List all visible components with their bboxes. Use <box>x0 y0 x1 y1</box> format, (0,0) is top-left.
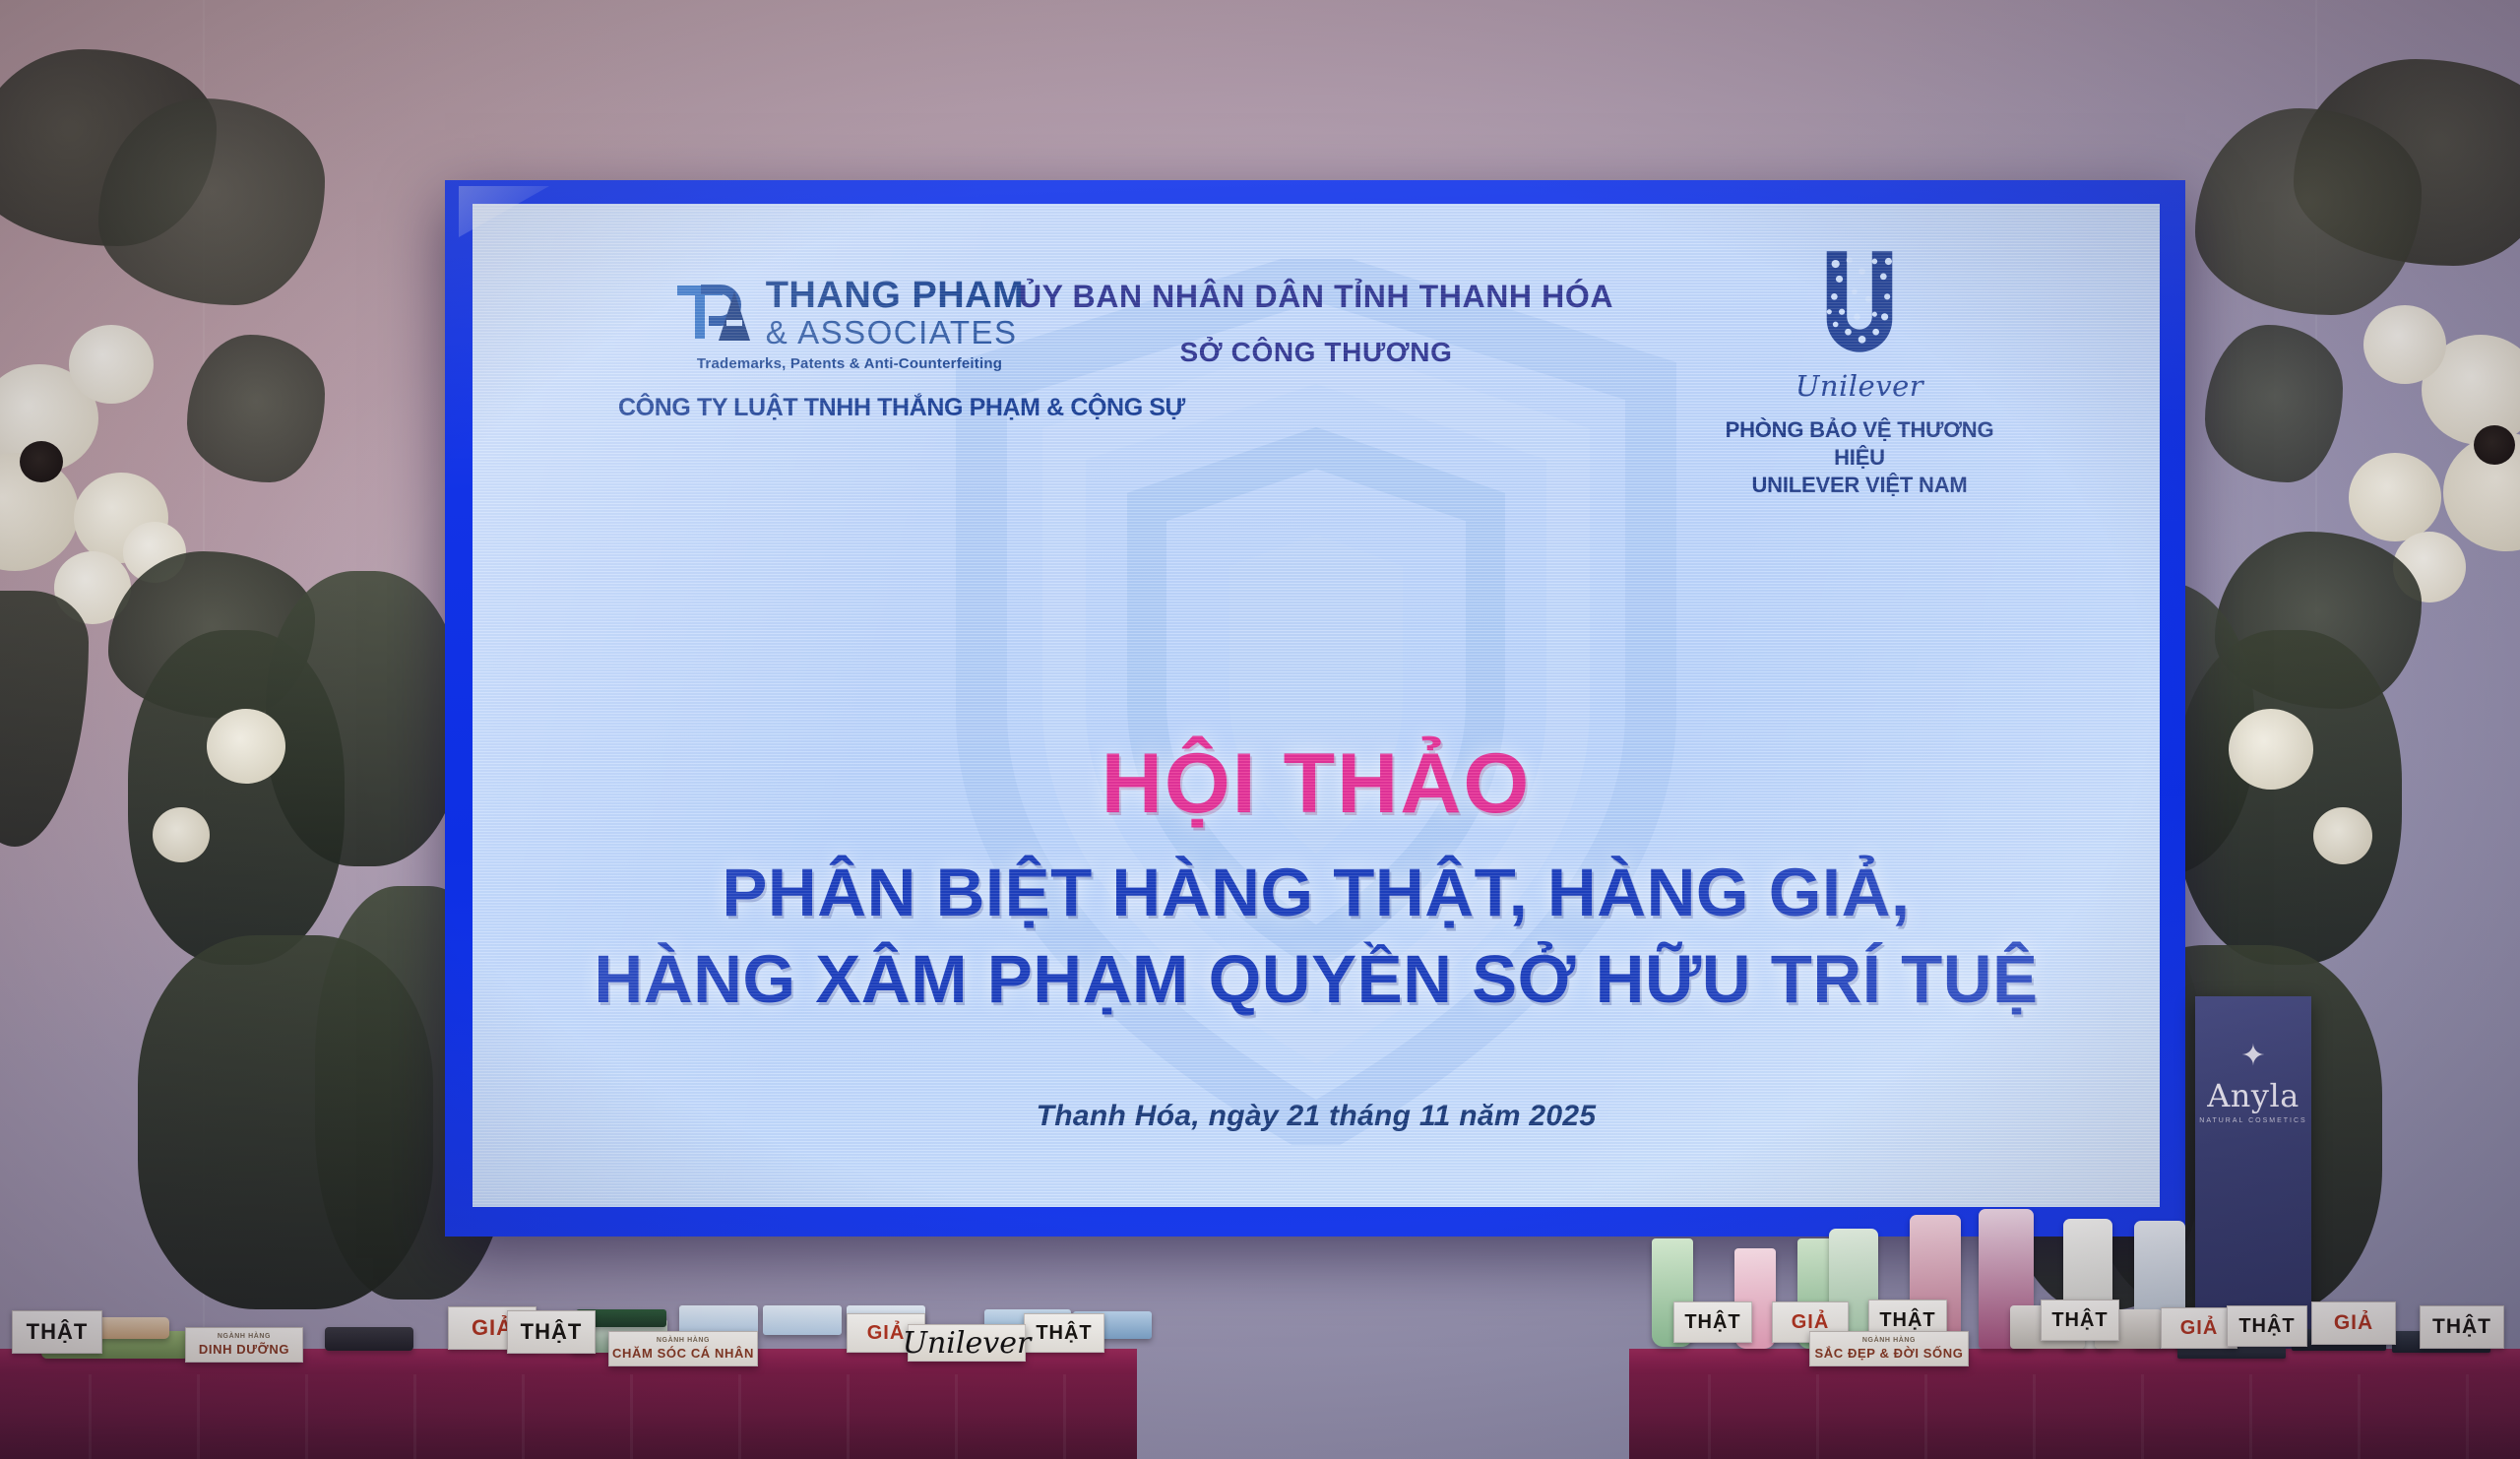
seminar-stage-photo: THANG PHAM & ASSOCIATES Trademarks, Pate… <box>0 0 2520 1459</box>
photo-vignette <box>0 0 2520 1459</box>
